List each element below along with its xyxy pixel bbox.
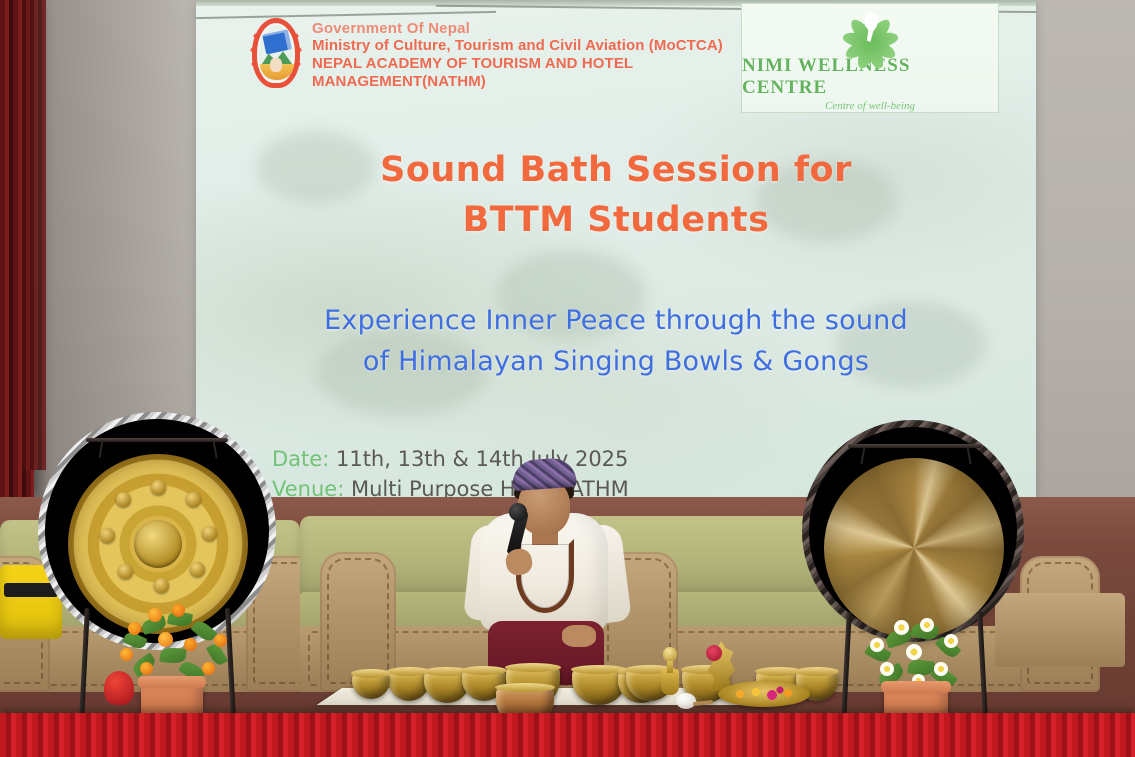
singing-bowl-mallet: [676, 693, 712, 709]
nepal-government-emblem-icon: [248, 12, 304, 98]
gong-leg: [977, 612, 988, 718]
venue-label: Venue:: [272, 477, 344, 498]
gong-stud: [190, 562, 205, 577]
lotus-horse-icon: [827, 8, 913, 59]
gong-crossbar: [848, 444, 982, 448]
slide-subtitle-line-2: of Himalayan Singing Bowls & Gongs: [196, 341, 1036, 382]
gong-stud: [100, 528, 115, 543]
government-header-text: Government Of Nepal Ministry of Culture,…: [312, 20, 768, 91]
brass-diyo-oil-lamp: [657, 647, 683, 695]
slide-title-line-2: BTTM Students: [196, 196, 1036, 246]
logo-name: NIMI WELLNESS CENTRE: [742, 55, 998, 99]
event-photo-scene: Government Of Nepal Ministry of Culture,…: [0, 0, 1135, 757]
gov-line-2: Ministry of Culture, Tourism and Civil A…: [312, 37, 768, 55]
gong-stud: [202, 526, 217, 541]
gong-stud: [154, 578, 169, 593]
gov-line-1: Government Of Nepal: [312, 20, 768, 38]
slide-subtitle: Experience Inner Peace through the sound…: [196, 300, 1036, 382]
gong-boss: [134, 520, 182, 568]
stage-curtain-fold: [22, 0, 46, 470]
slide-title: Sound Bath Session for BTTM Students: [196, 146, 1036, 245]
presenter-right-hand: [562, 625, 596, 647]
gong-stud: [186, 492, 201, 507]
gong-leg: [841, 612, 852, 718]
gong-stud: [118, 564, 133, 579]
gong-leg: [79, 608, 90, 718]
presenter: [466, 455, 626, 685]
dhaka-topi-cap-icon: [511, 457, 577, 491]
red-object: [104, 671, 134, 705]
stage-skirt: [0, 713, 1135, 757]
gong-stud: [151, 480, 166, 495]
bronze-flat-gong: [824, 458, 1004, 638]
flower-petals: [728, 686, 800, 702]
gov-line-3: NEPAL ACADEMY OF TOURISM AND HOTEL MANAG…: [312, 55, 768, 90]
slide-subtitle-line-1: Experience Inner Peace through the sound: [196, 300, 1036, 341]
slide-title-line-1: Sound Bath Session for: [196, 146, 1036, 196]
red-flower: [706, 645, 722, 661]
gong-stud: [116, 492, 131, 507]
slide-header: Government Of Nepal Ministry of Culture,…: [248, 6, 768, 104]
nimi-wellness-logo: NIMI WELLNESS CENTRE Centre of well-bein…: [741, 3, 999, 113]
microphone-head: [509, 503, 527, 521]
gong-crossbar: [86, 438, 228, 442]
date-label: Date:: [272, 447, 329, 471]
logo-tagline: Centre of well-being: [825, 100, 915, 112]
